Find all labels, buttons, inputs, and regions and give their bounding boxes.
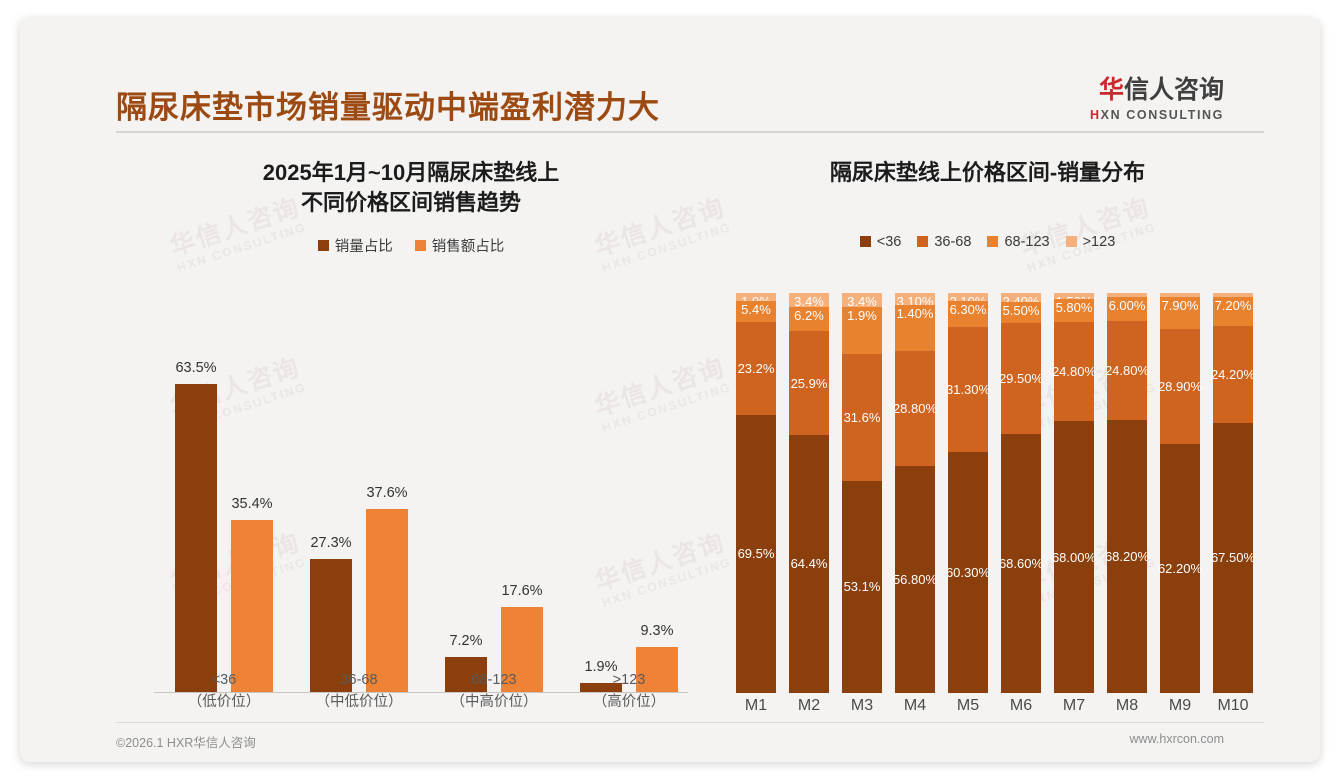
- stacked-bar-segment[interactable]: 2.40%: [1001, 293, 1041, 302]
- segment-value-label: 24.80%: [1052, 364, 1096, 379]
- x-axis-label-range: 68-123: [424, 670, 564, 692]
- logo-cn-rest: 信人咨询: [1124, 76, 1224, 104]
- bar-group: 27.3%37.6%: [299, 352, 419, 692]
- x-axis-label: M9: [1150, 697, 1210, 715]
- legend-label: 销售额占比: [432, 235, 505, 256]
- logo-cn-accent: 华: [1099, 76, 1124, 104]
- x-axis-label-tier: （中低价位）: [289, 692, 429, 714]
- segment-value-label: 6.00%: [1109, 298, 1146, 313]
- segment-value-label: 28.90%: [1158, 379, 1202, 394]
- stacked-bar-segment[interactable]: 3.10%: [895, 293, 935, 305]
- segment-value-label: 29.50%: [999, 371, 1043, 386]
- stacked-bar-segment[interactable]: 29.50%: [1001, 323, 1041, 434]
- bar[interactable]: 35.4%: [231, 520, 273, 692]
- logo-english-text: HXN CONSULTING: [1090, 109, 1224, 122]
- segment-value-label: 67.50%: [1211, 550, 1255, 565]
- bar-value-label: 35.4%: [231, 496, 272, 512]
- chart-left-plot-area: 63.5%35.4%<36（低价位）27.3%37.6%36-68（中低价位）7…: [140, 318, 688, 693]
- stacked-bar[interactable]: 3.4%6.2%25.9%64.4%: [789, 293, 829, 693]
- segment-value-label: 53.1%: [844, 579, 881, 594]
- stacked-bar-segment[interactable]: 24.20%: [1213, 326, 1253, 423]
- x-axis-label: 36-68（中低价位）: [289, 670, 429, 714]
- stacked-bar-segment[interactable]: 6.00%: [1107, 297, 1147, 321]
- bar-group: 7.2%17.6%: [434, 352, 554, 692]
- stacked-bar-segment[interactable]: 24.80%: [1107, 321, 1147, 420]
- logo-en-rest: XN CONSULTING: [1101, 108, 1224, 122]
- legend-label: 68-123: [1004, 234, 1049, 250]
- stacked-bar-segment[interactable]: 5.80%: [1054, 299, 1094, 322]
- segment-value-label: 1.40%: [897, 306, 934, 321]
- segment-value-label: 69.5%: [738, 546, 775, 561]
- x-axis-label: <36（低价位）: [154, 670, 294, 714]
- logo-chinese-text: 华信人咨询: [1090, 78, 1224, 103]
- legend-item[interactable]: 68-123: [987, 234, 1049, 250]
- stacked-bar-segment[interactable]: 68.00%: [1054, 421, 1094, 693]
- stacked-bar-segment[interactable]: 1.9%: [736, 293, 776, 301]
- segment-value-label: 5.50%: [1003, 303, 1040, 318]
- stacked-bar-segment[interactable]: 1.9%: [842, 307, 882, 355]
- x-axis-label-tier: （中高价位）: [424, 692, 564, 714]
- segment-value-label: 24.80%: [1105, 363, 1149, 378]
- segment-value-label: 68.20%: [1105, 549, 1149, 564]
- x-axis-label: M1: [726, 697, 786, 715]
- stacked-bar-segment[interactable]: 62.20%: [1160, 444, 1200, 693]
- chart-right-title: 隔尿床垫线上价格区间-销量分布: [710, 158, 1265, 188]
- stacked-bar-segment[interactable]: 56.80%: [895, 466, 935, 693]
- segment-value-label: 68.00%: [1052, 550, 1096, 565]
- stacked-bar-segment[interactable]: 60.30%: [948, 452, 988, 693]
- page-title: 隔尿床垫市场销量驱动中端盈利潜力大: [116, 82, 660, 127]
- x-axis-label: >123（高价位）: [559, 670, 699, 714]
- stacked-bar-segment[interactable]: 53.1%: [842, 481, 882, 693]
- stacked-bar-segment[interactable]: 3.4%: [789, 293, 829, 307]
- x-axis-label: 68-123（中高价位）: [424, 670, 564, 714]
- stacked-bar-segment[interactable]: 1.40%: [895, 305, 935, 351]
- segment-value-label: 56.80%: [893, 572, 937, 587]
- chart-price-band-sales-trend: 2025年1月~10月隔尿床垫线上 不同价格区间销售趋势 销量占比销售额占比 6…: [116, 158, 706, 718]
- logo-en-accent: H: [1090, 108, 1101, 122]
- slide-canvas: 隔尿床垫市场销量驱动中端盈利潜力大 华信人咨询 HXN CONSULTING 华…: [0, 0, 1340, 780]
- x-axis-label: M2: [779, 697, 839, 715]
- legend-item[interactable]: 销售额占比: [415, 235, 505, 256]
- stacked-bar-segment[interactable]: 69.5%: [736, 415, 776, 693]
- chart-right-title-line1: 隔尿床垫线上价格区间-销量分布: [710, 158, 1265, 188]
- legend-swatch-icon: [1066, 236, 1077, 247]
- stacked-bar[interactable]: 1.00%7.90%28.90%62.20%: [1160, 293, 1200, 693]
- x-axis-label: M10: [1203, 697, 1263, 715]
- segment-value-label: 31.30%: [946, 382, 990, 397]
- segment-value-label: 5.4%: [741, 302, 771, 317]
- slide-card: 隔尿床垫市场销量驱动中端盈利潜力大 华信人咨询 HXN CONSULTING 华…: [20, 18, 1320, 762]
- stacked-bar[interactable]: 2.10%6.30%31.30%60.30%: [948, 293, 988, 693]
- segment-value-label: 24.20%: [1211, 367, 1255, 382]
- legend-swatch-icon: [917, 236, 928, 247]
- stacked-bar-segment[interactable]: 23.2%: [736, 322, 776, 415]
- stacked-bar-segment[interactable]: 3.4%: [842, 293, 882, 307]
- stacked-bar-segment[interactable]: 6.30%: [948, 301, 988, 326]
- legend-swatch-icon: [318, 240, 329, 251]
- x-axis-label-tier: （高价位）: [559, 692, 699, 714]
- chart-price-band-volume-distribution: 隔尿床垫线上价格区间-销量分布 <3636-6868-123>123 1.9%5…: [710, 158, 1265, 718]
- segment-value-label: 7.90%: [1162, 298, 1199, 313]
- bar-value-label: 7.2%: [449, 633, 482, 649]
- stacked-bar-segment[interactable]: 6.2%: [789, 307, 829, 332]
- legend-swatch-icon: [860, 236, 871, 247]
- stacked-bar[interactable]: 1.10%7.20%24.20%67.50%: [1213, 293, 1253, 693]
- stacked-bar-segment[interactable]: 64.4%: [789, 435, 829, 693]
- x-axis-label: M8: [1097, 697, 1157, 715]
- stacked-bar[interactable]: 3.10%1.40%28.80%56.80%: [895, 293, 935, 693]
- segment-value-label: 1.9%: [847, 308, 877, 323]
- stacked-bar[interactable]: 1.00%6.00%24.80%68.20%: [1107, 293, 1147, 693]
- x-axis-label-range: 36-68: [289, 670, 429, 692]
- chart-left-title-line1: 2025年1月~10月隔尿床垫线上: [116, 158, 706, 188]
- stacked-bar-segment[interactable]: 31.6%: [842, 354, 882, 480]
- bar[interactable]: 63.5%: [175, 384, 217, 692]
- company-logo: 华信人咨询 HXN CONSULTING: [1090, 78, 1224, 122]
- footer-website: www.hxrcon.com: [1130, 732, 1224, 746]
- footer-divider: [116, 722, 1264, 723]
- legend-swatch-icon: [415, 240, 426, 251]
- segment-value-label: 68.60%: [999, 556, 1043, 571]
- stacked-bar[interactable]: 3.4%1.9%31.6%53.1%: [842, 293, 882, 693]
- segment-value-label: 6.2%: [794, 308, 824, 323]
- segment-value-label: 23.2%: [738, 361, 775, 376]
- legend-item[interactable]: 销量占比: [318, 235, 393, 256]
- stacked-bar-segment[interactable]: 5.4%: [736, 301, 776, 323]
- segment-value-label: 7.20%: [1215, 298, 1252, 313]
- bar-value-label: 37.6%: [366, 485, 407, 501]
- stacked-bar-segment[interactable]: 7.90%: [1160, 297, 1200, 329]
- chart-left-title-line2: 不同价格区间销售趋势: [116, 188, 706, 218]
- bar-value-label: 17.6%: [501, 583, 542, 599]
- x-axis-label: M5: [938, 697, 998, 715]
- bar-group: 1.9%9.3%: [569, 352, 689, 692]
- legend-item[interactable]: <36: [860, 234, 902, 250]
- stacked-bar-segment[interactable]: 31.30%: [948, 327, 988, 452]
- legend-label: 销量占比: [335, 235, 393, 256]
- segment-value-label: 6.30%: [950, 302, 987, 317]
- legend-label: 36-68: [934, 234, 971, 250]
- segment-value-label: 31.6%: [844, 410, 881, 425]
- stacked-bar-segment[interactable]: 68.60%: [1001, 434, 1041, 693]
- stacked-bar[interactable]: 1.9%5.4%23.2%69.5%: [736, 293, 776, 693]
- legend-swatch-icon: [987, 236, 998, 247]
- segment-value-label: 28.80%: [893, 401, 937, 416]
- stacked-bar[interactable]: 1.50%5.80%24.80%68.00%: [1054, 293, 1094, 693]
- legend-label: >123: [1083, 234, 1116, 250]
- stacked-bar[interactable]: 2.40%5.50%29.50%68.60%: [1001, 293, 1041, 693]
- stacked-bar-segment[interactable]: 67.50%: [1213, 423, 1253, 693]
- bar-value-label: 63.5%: [175, 360, 216, 376]
- legend-item[interactable]: >123: [1066, 234, 1116, 250]
- chart-left-legend: 销量占比销售额占比: [116, 235, 706, 256]
- legend-item[interactable]: 36-68: [917, 234, 971, 250]
- segment-value-label: 62.20%: [1158, 561, 1202, 576]
- x-axis-label-range: >123: [559, 670, 699, 692]
- x-axis-label-tier: （低价位）: [154, 692, 294, 714]
- segment-value-label: 5.80%: [1056, 300, 1093, 315]
- stacked-bar-segment[interactable]: 28.80%: [895, 351, 935, 466]
- footer-copyright: ©2026.1 HXR华信人咨询: [116, 732, 256, 751]
- chart-right-legend: <3636-6868-123>123: [710, 234, 1265, 250]
- segment-value-label: 25.9%: [791, 376, 828, 391]
- bar[interactable]: 37.6%: [366, 509, 408, 692]
- chart-left-title: 2025年1月~10月隔尿床垫线上 不同价格区间销售趋势: [116, 158, 706, 217]
- bar-value-label: 27.3%: [310, 535, 351, 551]
- stacked-bar-segment[interactable]: 25.9%: [789, 331, 829, 435]
- stacked-bar-segment[interactable]: 24.80%: [1054, 322, 1094, 421]
- stacked-bar-segment[interactable]: 5.50%: [1001, 302, 1041, 323]
- legend-label: <36: [877, 234, 902, 250]
- stacked-bar-segment[interactable]: 2.10%: [948, 293, 988, 301]
- stacked-bar-segment[interactable]: 28.90%: [1160, 329, 1200, 445]
- x-axis-label-range: <36: [154, 670, 294, 692]
- segment-value-label: 64.4%: [791, 556, 828, 571]
- bar-group: 63.5%35.4%: [164, 352, 284, 692]
- chart-right-plot-area: 1.9%5.4%23.2%69.5%M13.4%6.2%25.9%64.4%M2…: [718, 293, 1258, 693]
- x-axis-label: M7: [1044, 697, 1104, 715]
- segment-value-label: 60.30%: [946, 565, 990, 580]
- bar-value-label: 9.3%: [640, 623, 673, 639]
- x-axis-label: M6: [991, 697, 1051, 715]
- x-axis-label: M3: [832, 697, 892, 715]
- stacked-bar-segment[interactable]: 68.20%: [1107, 420, 1147, 693]
- header-divider: [116, 131, 1264, 133]
- stacked-bar-segment[interactable]: 7.20%: [1213, 297, 1253, 326]
- x-axis-label: M4: [885, 697, 945, 715]
